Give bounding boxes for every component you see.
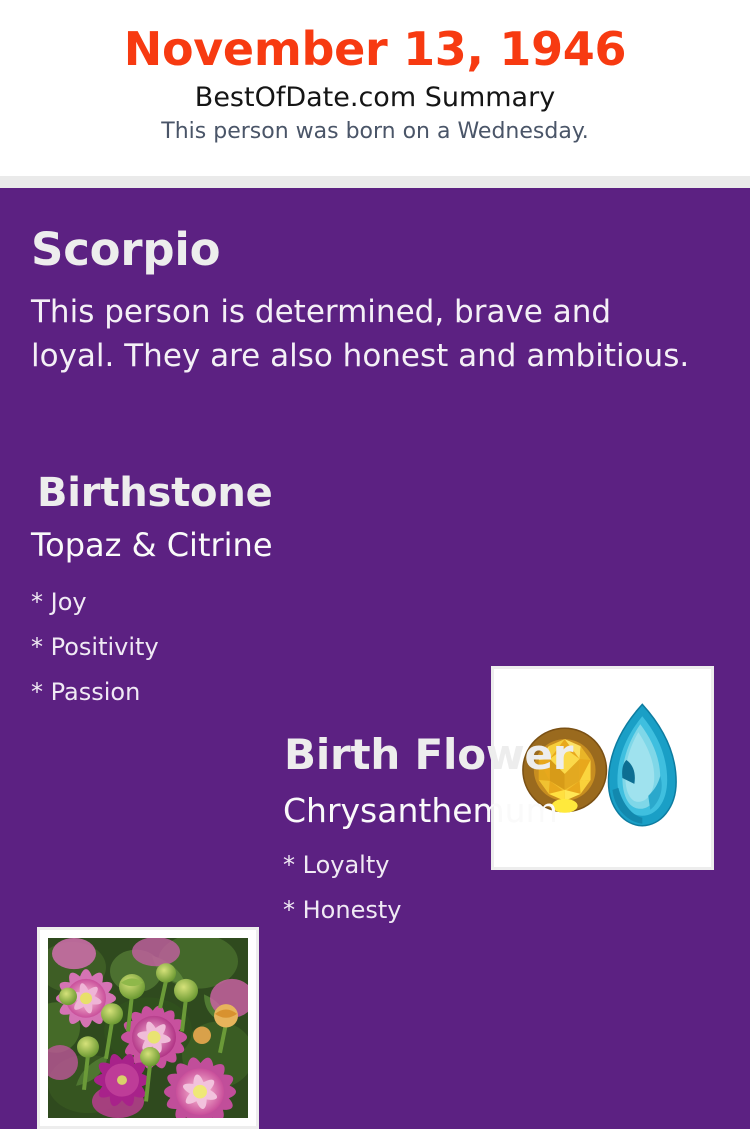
zodiac-description: This person is determined, brave and loy… bbox=[31, 290, 701, 379]
birthstone-traits-list: * Joy * Positivity * Passion bbox=[31, 580, 159, 715]
list-item: * Joy bbox=[31, 580, 159, 625]
birth-flower-traits-list: * Loyalty * Honesty bbox=[283, 843, 401, 933]
birth-flower-image-frame bbox=[37, 927, 259, 1129]
zodiac-sign-title: Scorpio bbox=[31, 227, 220, 272]
birthstone-heading: Birthstone bbox=[37, 473, 273, 513]
birth-flower-name: Chrysanthemum bbox=[283, 794, 558, 827]
summary-panel: Scorpio This person is determined, brave… bbox=[0, 188, 750, 1000]
chrysanthemum-flowers-icon bbox=[48, 938, 248, 1118]
born-day-note: This person was born on a Wednesday. bbox=[0, 113, 750, 144]
page-header: November 13, 1946 BestOfDate.com Summary… bbox=[0, 0, 750, 176]
list-item: * Loyalty bbox=[283, 843, 401, 888]
header-divider bbox=[0, 176, 750, 188]
page-title-date: November 13, 1946 bbox=[0, 0, 750, 75]
birth-flower-heading: Birth Flower bbox=[284, 734, 573, 776]
birthstone-name: Topaz & Citrine bbox=[31, 529, 273, 561]
birth-flower-image-mat bbox=[40, 930, 256, 1126]
list-item: * Positivity bbox=[31, 625, 159, 670]
site-summary-label: BestOfDate.com Summary bbox=[0, 75, 750, 113]
list-item: * Honesty bbox=[283, 888, 401, 933]
list-item: * Passion bbox=[31, 670, 159, 715]
